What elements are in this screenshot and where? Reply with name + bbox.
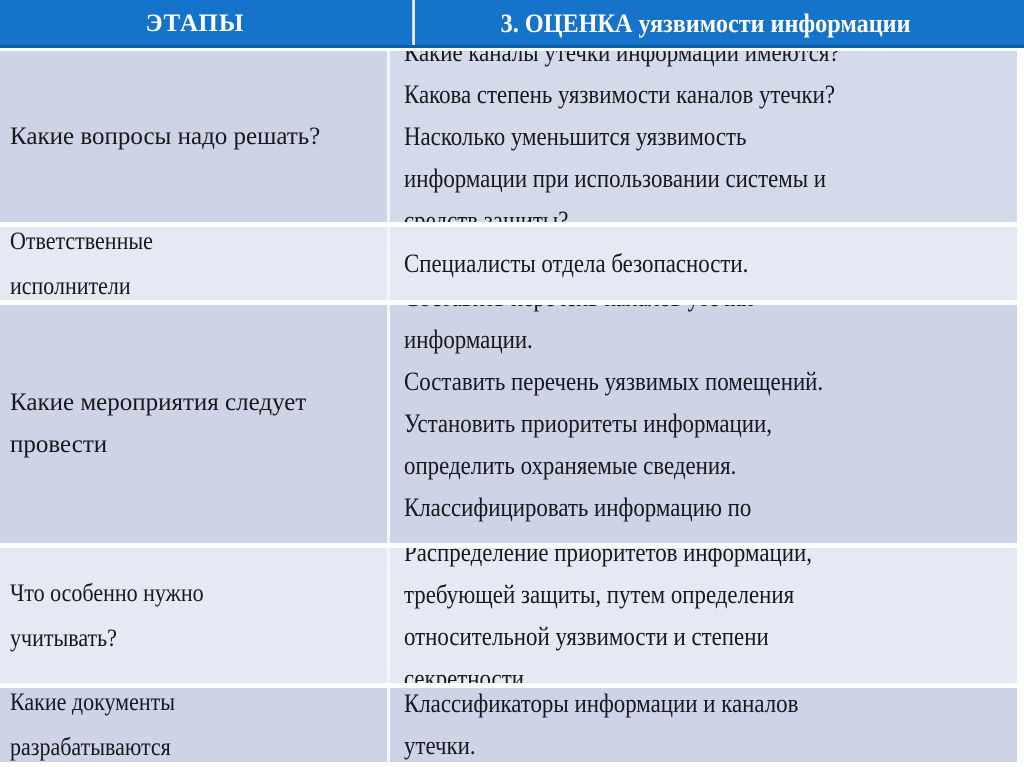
table-row: Что особенно нужно учитывать? Распределе… [0,548,1017,688]
stage-text: Что особенно нужно учитывать? [10,571,377,661]
stage-cell: Какие вопросы надо решать? [0,51,390,222]
stage-cell: Какие мероприятия следует провести [0,305,390,543]
detail-cell: Специалисты отдела безопасности. [390,227,1017,300]
stage-line: Ответственные [10,227,377,264]
stage-line: разрабатываются [10,725,377,762]
stage-cell: Ответственные исполнители [0,227,390,300]
slide-root: ЭТАПЫ 3. ОЦЕНКА уязвимости информации Ка… [0,0,1024,767]
stage-line: исполнители [10,264,377,301]
detail-line: средств защиты? [404,200,1004,223]
stage-text: Какие мероприятия следует провести [10,382,379,466]
table-row: Ответственные исполнители Специалисты от… [0,227,1017,305]
detail-line: Распределение приоритетов информации, [404,548,1004,574]
detail-line: Установить приоритеты информации, [404,403,1004,445]
stage-line: провести [10,424,379,466]
detail-cell: Классификаторы информации и каналов утеч… [390,688,1017,762]
table-row: Какие мероприятия следует провести Соста… [0,305,1017,548]
detail-text: Специалисты отдела безопасности. [404,243,1004,285]
stage-text: Какие вопросы надо решать? [10,116,379,158]
stage-line: Что особенно нужно [10,571,377,616]
table-row: Какие вопросы надо решать? Какие каналы … [0,51,1017,227]
detail-cell: Распределение приоритетов информации, тр… [390,548,1017,683]
stage-line: Какие мероприятия следует [10,382,379,424]
detail-cell: Какие каналы утечки информации имеются? … [390,51,1017,222]
detail-line: Классификаторы информации и каналов [404,688,1004,725]
table-body: Какие вопросы надо решать? Какие каналы … [0,51,1017,767]
stage-cell: Что особенно нужно учитывать? [0,548,390,683]
stage-text: Ответственные исполнители [10,227,377,300]
stage-cell: Какие документы разрабатываются [0,688,390,762]
detail-line: Какие каналы утечки информации имеются? [404,51,1004,74]
detail-cell: Составить перечень каналов утечки информ… [390,305,1017,543]
detail-text: Какие каналы утечки информации имеются? … [404,51,1004,222]
detail-line: Насколько уменьшится уязвимость [404,116,1004,158]
stage-text: Какие документы разрабатываются [10,688,377,762]
detail-line: секретности. [404,658,1004,684]
table-header-row: ЭТАПЫ 3. ОЦЕНКА уязвимости информации [0,0,1024,48]
detail-line: Какова степень уязвимости каналов утечки… [404,74,1004,116]
detail-line: Составить перечень каналов утечки [404,305,1004,319]
table-row: Какие документы разрабатываются Классифи… [0,688,1017,762]
detail-line: приоритетам и ценности. [404,529,1004,543]
detail-text: Распределение приоритетов информации, тр… [404,548,1004,683]
stage-line: Какие вопросы надо решать? [10,116,379,158]
detail-line: Специалисты отдела безопасности. [404,243,1004,285]
detail-line: Составить перечень уязвимых помещений. [404,361,1004,403]
detail-line: утечки. [404,725,1004,762]
detail-line: информации. [404,319,1004,361]
detail-line: определить охраняемые сведения. [404,445,1004,487]
detail-line: относительной уязвимости и степени [404,616,1004,658]
header-cell-phase: 3. ОЦЕНКА уязвимости информации [412,0,1002,48]
detail-line: информации при использовании системы и [404,158,1004,200]
header-cell-stages: ЭТАПЫ [0,0,390,48]
stage-line: учитывать? [10,616,377,661]
detail-line: Классифицировать информацию по [404,487,1004,529]
detail-line: требующей защиты, путем определения [404,574,1004,616]
stage-line: Какие документы [10,688,377,725]
detail-text: Классификаторы информации и каналов утеч… [404,688,1004,762]
detail-text: Составить перечень каналов утечки информ… [404,305,1004,543]
